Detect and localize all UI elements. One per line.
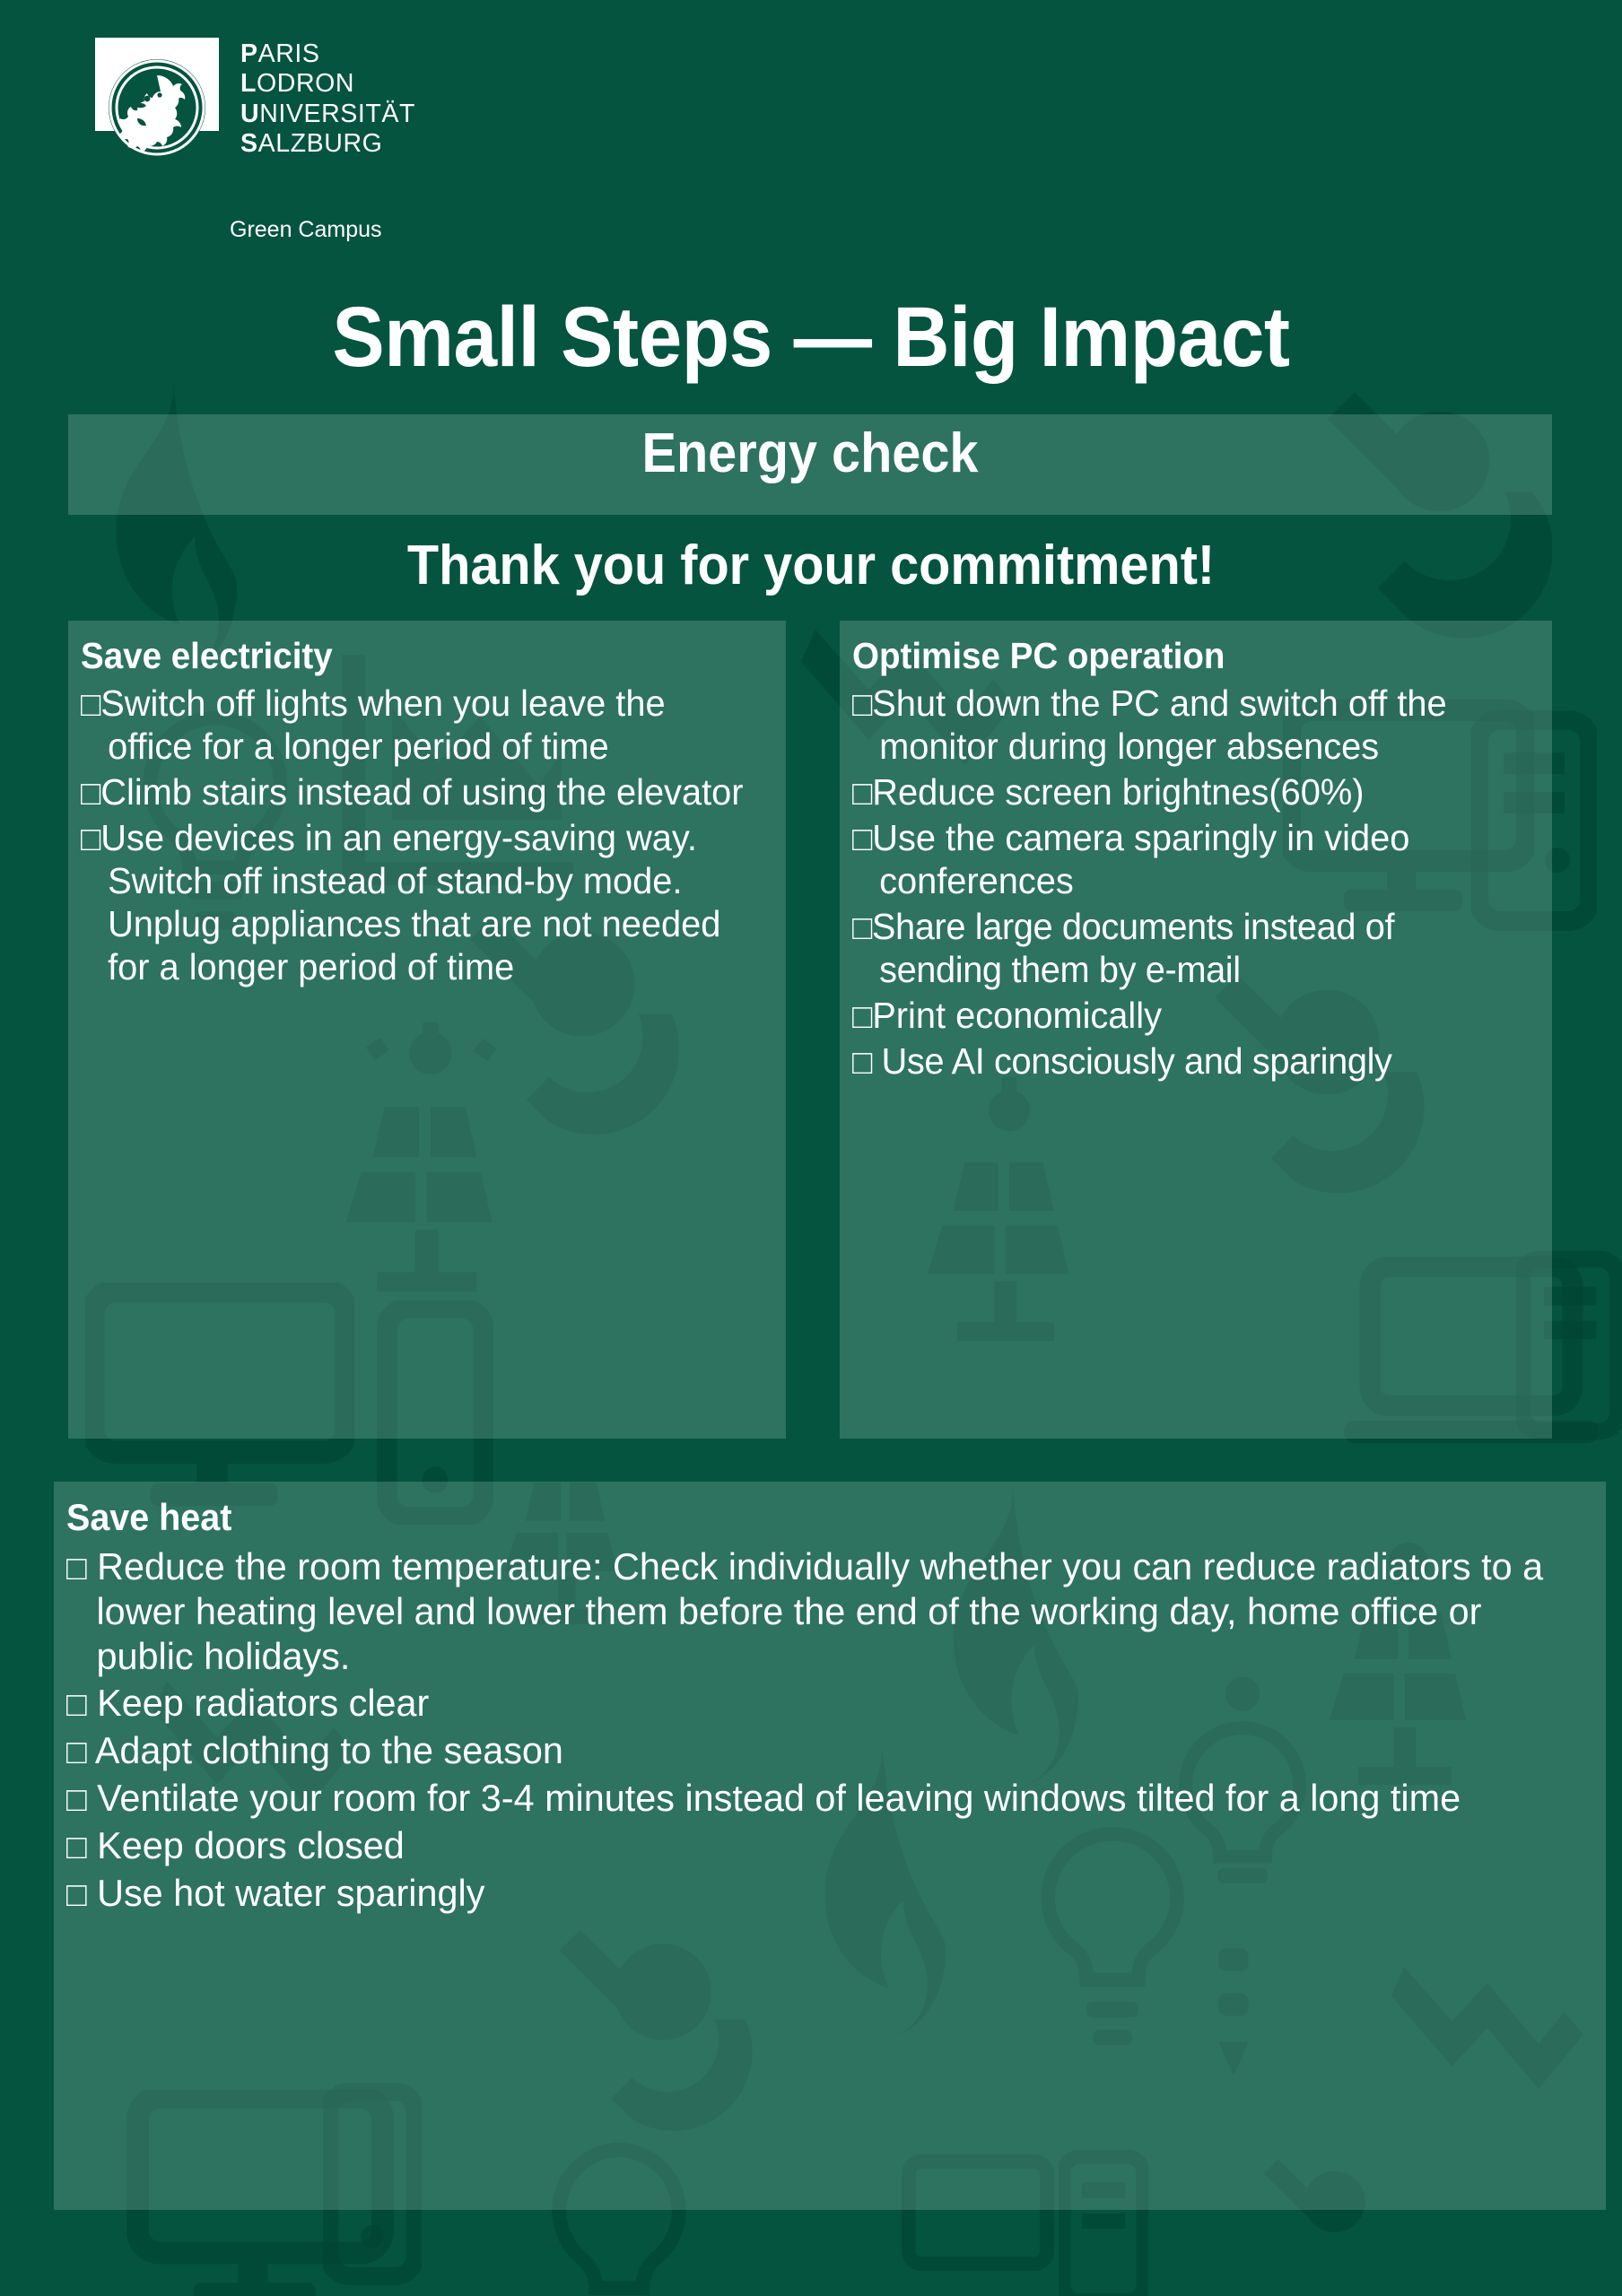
poster-root: PARIS LODRON UNIVERSITÄT SALZBURG Green … [0, 0, 1622, 2296]
checkbox-icon[interactable]: □ [81, 821, 100, 858]
checklist-item-label: Share large documents instead of sending… [872, 906, 1394, 990]
checklist-item-label: Use hot water sparingly [87, 1872, 485, 1914]
checkbox-icon[interactable]: □ [66, 1876, 87, 1914]
checkbox-icon[interactable]: □ [81, 775, 100, 813]
checklist-item[interactable]: □Use devices in an energy-saving way. Sw… [81, 817, 753, 989]
checklist-item[interactable]: □Climb stairs instead of using the eleva… [81, 771, 753, 814]
panel-optimise-pc-operation: Optimise PC operation □Shut down the PC … [840, 621, 1552, 1439]
checklist-item-label: Adapt clothing to the season [87, 1729, 563, 1771]
panel-save-electricity: Save electricity □Switch off lights when… [68, 621, 786, 1439]
checklist-item-label: Reduce screen brightnes(60%) [872, 771, 1364, 813]
checklist-save-heat: □ Reduce the room temperature: Check ind… [66, 1544, 1593, 1915]
checklist-item-label: Shut down the PC and switch off the moni… [872, 683, 1446, 767]
checklist-item-label: Use AI consciously and sparingly [872, 1040, 1392, 1082]
page-title: Small Steps — Big Impact [65, 289, 1557, 387]
sub-brand-green-campus: Green Campus [230, 217, 382, 243]
checklist-item[interactable]: □Switch off lights when you leave the of… [81, 683, 753, 769]
checklist-item[interactable]: □ Keep doors closed [66, 1823, 1570, 1868]
logo-line-salzburg: SALZBURG [240, 129, 415, 159]
checkbox-icon[interactable]: □ [852, 821, 872, 858]
checklist-item[interactable]: □ Reduce the room temperature: Check ind… [66, 1544, 1570, 1678]
checkbox-icon[interactable]: □ [66, 1686, 87, 1724]
checklist-item-label: Keep doors closed [87, 1824, 405, 1866]
checklist-item-label: Switch off lights when you leave the off… [100, 683, 665, 767]
panel-save-heat: Save heat □ Reduce the room temperature:… [54, 1482, 1606, 2210]
subtitle: Energy check [120, 422, 1500, 485]
university-logo: PARIS LODRON UNIVERSITÄT SALZBURG [93, 36, 415, 160]
logo-line-universitaet: UNIVERSITÄT [240, 100, 415, 129]
checkbox-icon[interactable]: □ [852, 909, 872, 947]
panel-title-optimise-pc-operation: Optimise PC operation [852, 635, 1498, 677]
checklist-item-label: Climb stairs instead of using the elevat… [100, 771, 743, 813]
checkbox-icon[interactable]: □ [852, 775, 872, 813]
checklist-item[interactable]: □Share large documents instead of sendin… [852, 906, 1519, 992]
checklist-item-label: Use devices in an energy-saving way. Swi… [100, 817, 720, 987]
checkbox-icon[interactable]: □ [66, 1781, 87, 1819]
logo-line-paris: PARIS [240, 39, 415, 69]
checklist-item[interactable]: □Print economically [852, 995, 1519, 1038]
checklist-optimise-pc-operation: □Shut down the PC and switch off the mon… [852, 683, 1539, 1083]
checkbox-icon[interactable]: □ [81, 686, 100, 724]
checkbox-icon[interactable]: □ [852, 686, 872, 724]
checklist-item[interactable]: □Reduce screen brightnes(60%) [852, 771, 1519, 814]
checkbox-icon[interactable]: □ [852, 998, 872, 1036]
checklist-item[interactable]: □ Keep radiators clear [66, 1681, 1570, 1726]
plus-salzburg-lion-crest-logo [93, 36, 221, 160]
checkbox-icon[interactable]: □ [852, 1044, 872, 1082]
logo-line-lodron: LODRON [240, 69, 415, 99]
checklist-save-electricity: □Switch off lights when you leave the of… [81, 683, 773, 989]
checklist-item-label: Use the camera sparingly in video confer… [872, 817, 1409, 901]
checklist-item[interactable]: □Shut down the PC and switch off the mon… [852, 683, 1519, 769]
logo-wordmark: PARIS LODRON UNIVERSITÄT SALZBURG [240, 39, 415, 159]
checklist-item-label: Keep radiators clear [87, 1682, 430, 1724]
checkbox-icon[interactable]: □ [66, 1550, 87, 1587]
checklist-item-label: Print economically [872, 995, 1162, 1036]
checkbox-icon[interactable]: □ [66, 1734, 87, 1771]
panel-title-save-electricity: Save electricity [81, 635, 732, 677]
checklist-item[interactable]: □ Ventilate your room for 3-4 minutes in… [66, 1776, 1570, 1821]
checklist-item[interactable]: □Use the camera sparingly in video confe… [852, 817, 1519, 903]
checkbox-icon[interactable]: □ [66, 1829, 87, 1866]
checklist-item-label: Ventilate your room for 3-4 minutes inst… [87, 1777, 1461, 1819]
checklist-item[interactable]: □ Use AI consciously and sparingly [852, 1040, 1519, 1083]
checklist-item[interactable]: □ Adapt clothing to the season [66, 1728, 1570, 1773]
checklist-item[interactable]: □ Use hot water sparingly [66, 1871, 1570, 1916]
thanks-message: Thank you for your commitment! [57, 534, 1565, 597]
checklist-item-label: Reduce the room temperature: Check indiv… [87, 1545, 1543, 1676]
panel-title-save-heat: Save heat [66, 1496, 1502, 1539]
